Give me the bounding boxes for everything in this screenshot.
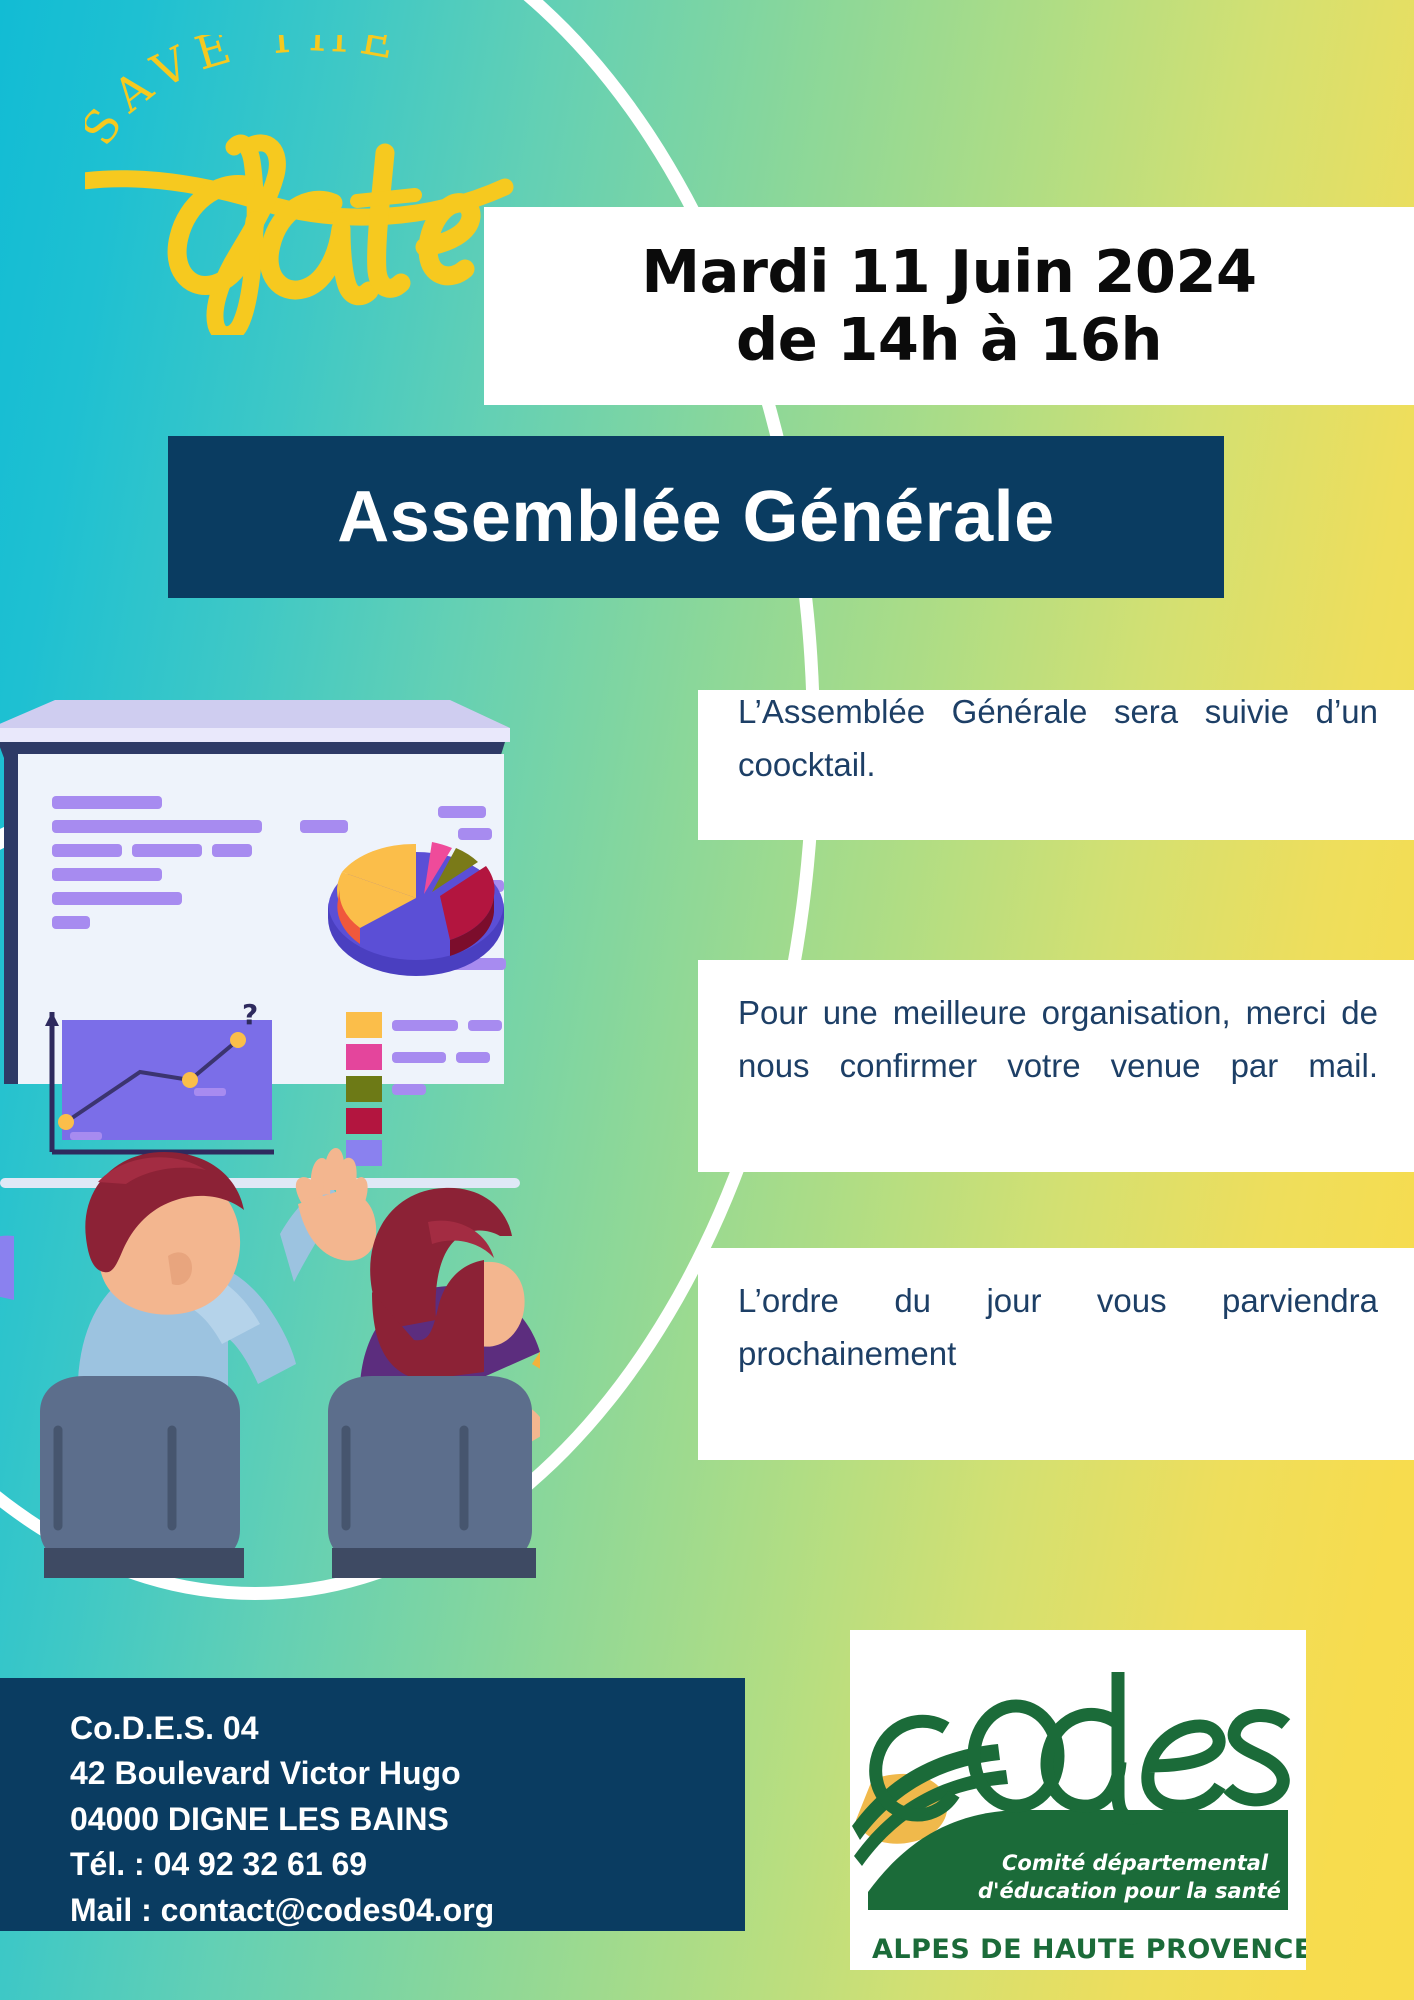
address-block: Co.D.E.S. 04 42 Boulevard Victor Hugo 04… [0, 1678, 745, 1931]
address-line-mail: Mail : contact@codes04.org [70, 1888, 745, 1933]
save-the-date-lettering: SAVE THE [85, 35, 515, 335]
date-line-2: de 14h à 16h [736, 307, 1162, 373]
address-line-phone: Tél. : 04 92 32 61 69 [70, 1842, 745, 1887]
info-card-text: Pour une meilleure organisation, merci d… [698, 986, 1414, 1146]
info-card-text: L’Assemblée Générale sera suivie d’un co… [698, 685, 1414, 845]
svg-text:SAVE THE: SAVE THE [85, 35, 409, 155]
info-card-agenda: L’ordre du jour vous parviendra prochain… [698, 1248, 1414, 1460]
address-line-city: 04000 DIGNE LES BAINS [70, 1797, 745, 1842]
info-card-confirmation: Pour une meilleure organisation, merci d… [698, 960, 1414, 1172]
date-card: Mardi 11 Juin 2024 de 14h à 16h [484, 207, 1414, 405]
codes-logo: Comité départemental d'éducation pour la… [850, 1630, 1306, 1970]
whiteboard-illustration: ? [0, 610, 540, 1230]
svg-text:?: ? [242, 998, 258, 1031]
event-title-banner: Assemblée Générale [168, 436, 1224, 598]
poster-canvas: SAVE THE Mardi 11 Juin 2024 de 14h à 16h [0, 0, 1414, 2000]
address-line-street: 42 Boulevard Victor Hugo [70, 1751, 745, 1796]
logo-tagline-2: d'éducation pour la santé [978, 1879, 1281, 1903]
date-line-1: Mardi 11 Juin 2024 [641, 239, 1256, 305]
address-line-org: Co.D.E.S. 04 [70, 1706, 745, 1751]
logo-region: ALPES DE HAUTE PROVENCE [872, 1934, 1306, 1965]
info-card-cocktail: L’Assemblée Générale sera suivie d’un co… [698, 690, 1414, 840]
chevron-marks-icon [0, 700, 330, 890]
logo-tagline-1: Comité départemental [1002, 1851, 1269, 1875]
event-title: Assemblée Générale [337, 476, 1054, 558]
info-card-text: L’ordre du jour vous parviendra prochain… [698, 1274, 1414, 1434]
audience-illustration [0, 960, 540, 1580]
